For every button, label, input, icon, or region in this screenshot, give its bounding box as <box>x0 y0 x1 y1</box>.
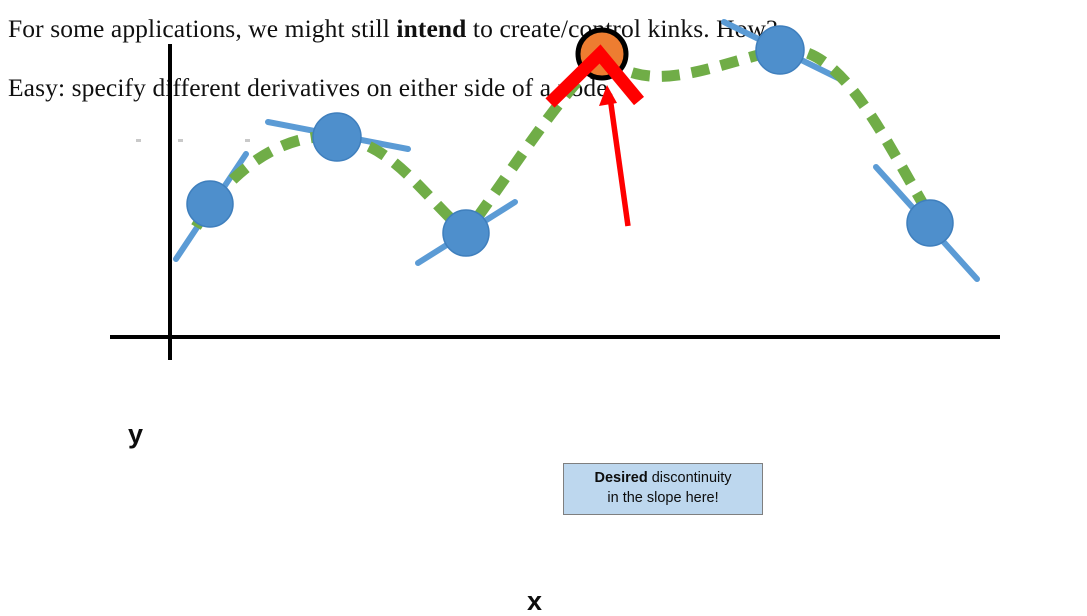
callout-line-2: in the slope here! <box>607 489 718 509</box>
slide-canvas: For some applications, we might still in… <box>0 0 1087 540</box>
node-1[interactable] <box>187 181 233 227</box>
node-3[interactable] <box>443 210 489 256</box>
callout-box: Desired discontinuity in the slope here! <box>563 463 763 515</box>
node-6[interactable] <box>907 200 953 246</box>
node-2[interactable] <box>313 113 361 161</box>
callout-line-1-rest: discontinuity <box>648 470 732 486</box>
x-axis-label: x <box>527 588 542 615</box>
blue-nodes <box>187 26 953 256</box>
spline-kink-figure: y x Desired discontinuity in the slope h… <box>0 118 1087 540</box>
callout-emphasis: Desired <box>594 470 647 486</box>
callout-line-1: Desired discontinuity <box>594 469 731 489</box>
pointer-arrow <box>599 85 628 226</box>
node-5[interactable] <box>756 26 804 74</box>
y-axis-label: y <box>128 421 143 448</box>
